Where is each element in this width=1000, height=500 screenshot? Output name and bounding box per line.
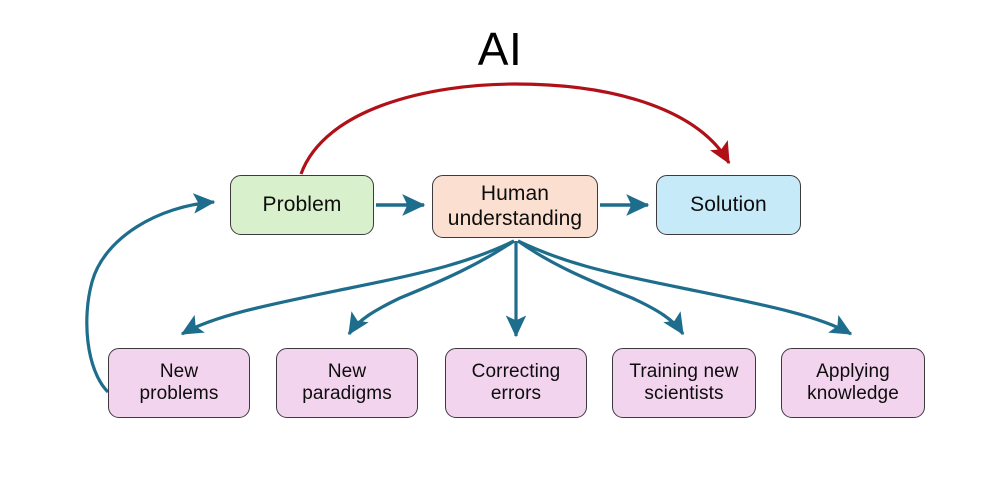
node-training-new-scientists-label: Training new scientists bbox=[629, 361, 738, 405]
node-correcting-errors-label: Correcting errors bbox=[472, 361, 561, 405]
node-solution-label: Solution bbox=[690, 193, 767, 217]
node-applying-knowledge[interactable]: Applying knowledge bbox=[781, 348, 925, 418]
diagram-canvas: AI Problem Human bbox=[0, 0, 1000, 500]
node-correcting-errors[interactable]: Correcting errors bbox=[445, 348, 587, 418]
edge-human-to-new-problems bbox=[182, 241, 514, 334]
node-applying-knowledge-label: Applying knowledge bbox=[807, 361, 899, 405]
edge-layer bbox=[0, 0, 1000, 500]
edge-human-to-training-scientists bbox=[518, 241, 683, 334]
node-new-problems-label: New problems bbox=[140, 361, 219, 405]
node-new-problems[interactable]: New problems bbox=[108, 348, 250, 418]
node-problem-label: Problem bbox=[263, 193, 342, 217]
edge-human-to-new-paradigms bbox=[349, 241, 514, 334]
node-human-understanding[interactable]: Human understanding bbox=[432, 175, 598, 238]
node-human-understanding-label: Human understanding bbox=[448, 182, 582, 231]
node-new-paradigms[interactable]: New paradigms bbox=[276, 348, 418, 418]
edge-ai-shortcut bbox=[301, 84, 729, 174]
node-training-new-scientists[interactable]: Training new scientists bbox=[612, 348, 756, 418]
edge-human-to-applying-knowledge bbox=[518, 241, 851, 334]
node-new-paradigms-label: New paradigms bbox=[302, 361, 392, 405]
node-solution[interactable]: Solution bbox=[656, 175, 801, 235]
node-problem[interactable]: Problem bbox=[230, 175, 374, 235]
